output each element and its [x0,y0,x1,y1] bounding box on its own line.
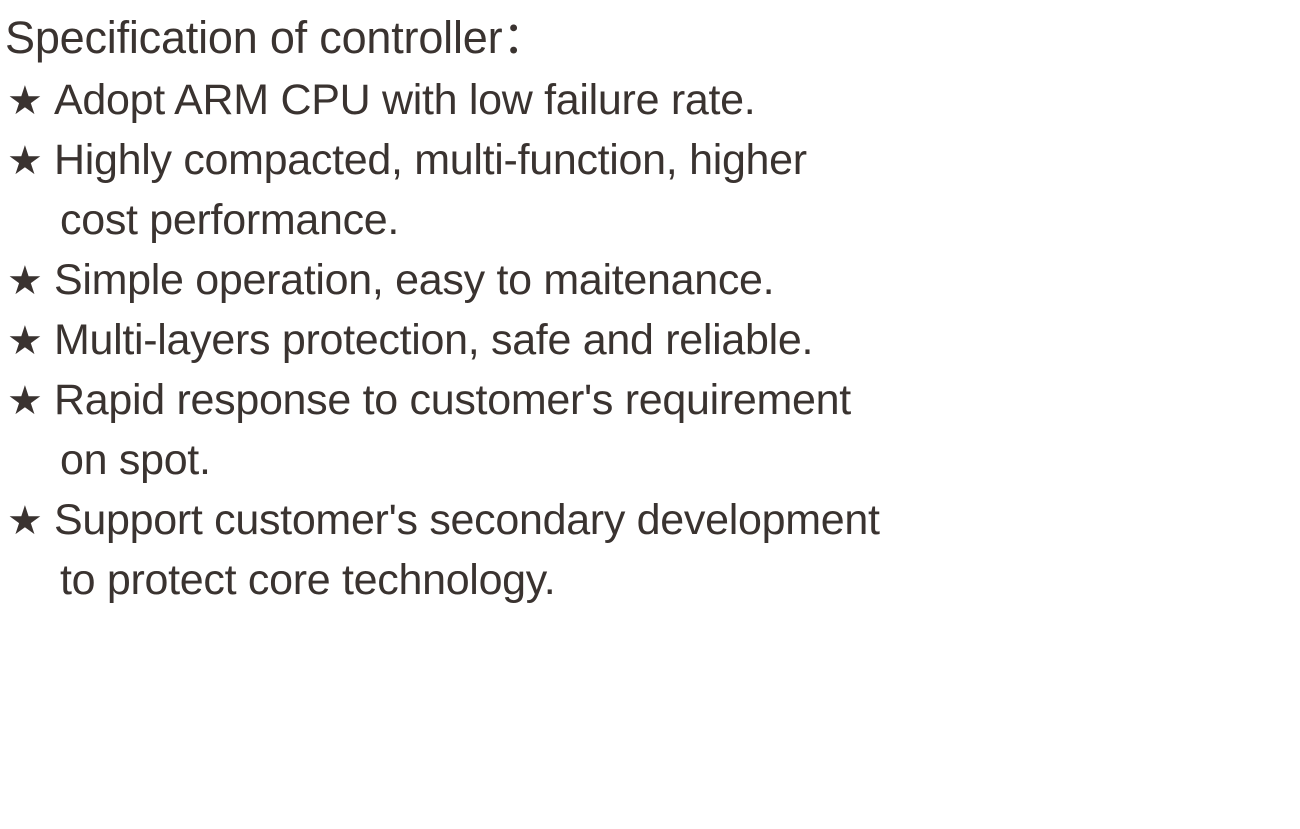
spec-text: Simple operation, easy to maitenance. [54,250,774,310]
spec-line-continuation: on spot. [0,430,1300,490]
list-item: ★Multi-layers protection, safe and relia… [0,310,1300,370]
star-bullet-icon: ★ [7,131,54,191]
page-title: Specification of controller： [5,8,547,68]
star-bullet-icon: ★ [7,251,54,311]
star-bullet-icon: ★ [7,311,54,371]
spec-line-primary: ★Adopt ARM CPU with low failure rate. [0,70,1300,130]
star-bullet-icon: ★ [7,71,54,131]
list-item: ★Highly compacted, multi-function, highe… [0,130,1300,250]
spec-text: Highly compacted, multi-function, higher [54,130,807,190]
spec-text: Multi-layers protection, safe and reliab… [54,310,813,370]
specification-list: ★Adopt ARM CPU with low failure rate.★Hi… [0,70,1300,610]
spec-text: cost performance. [60,190,399,250]
spec-line-primary: ★Support customer's secondary developmen… [0,490,1300,550]
spec-text: Support customer's secondary development [54,490,880,550]
spec-text: on spot. [60,430,211,490]
star-bullet-icon: ★ [7,371,54,431]
spec-line-primary: ★Multi-layers protection, safe and relia… [0,310,1300,370]
spec-line-continuation: cost performance. [0,190,1300,250]
spec-line-primary: ★Simple operation, easy to maitenance. [0,250,1300,310]
spec-line-primary: ★Rapid response to customer's requiremen… [0,370,1300,430]
specification-sheet: Specification of controller： ★Adopt ARM … [0,0,1300,829]
list-item: ★Support customer's secondary developmen… [0,490,1300,610]
spec-line-continuation: to protect core technology. [0,550,1300,610]
spec-text: to protect core technology. [60,550,555,610]
list-item: ★Rapid response to customer's requiremen… [0,370,1300,490]
star-bullet-icon: ★ [7,491,54,551]
spec-line-primary: ★Highly compacted, multi-function, highe… [0,130,1300,190]
list-item: ★Adopt ARM CPU with low failure rate. [0,70,1300,130]
spec-text: Rapid response to customer's requirement [54,370,851,430]
spec-text: Adopt ARM CPU with low failure rate. [54,70,755,130]
list-item: ★Simple operation, easy to maitenance. [0,250,1300,310]
